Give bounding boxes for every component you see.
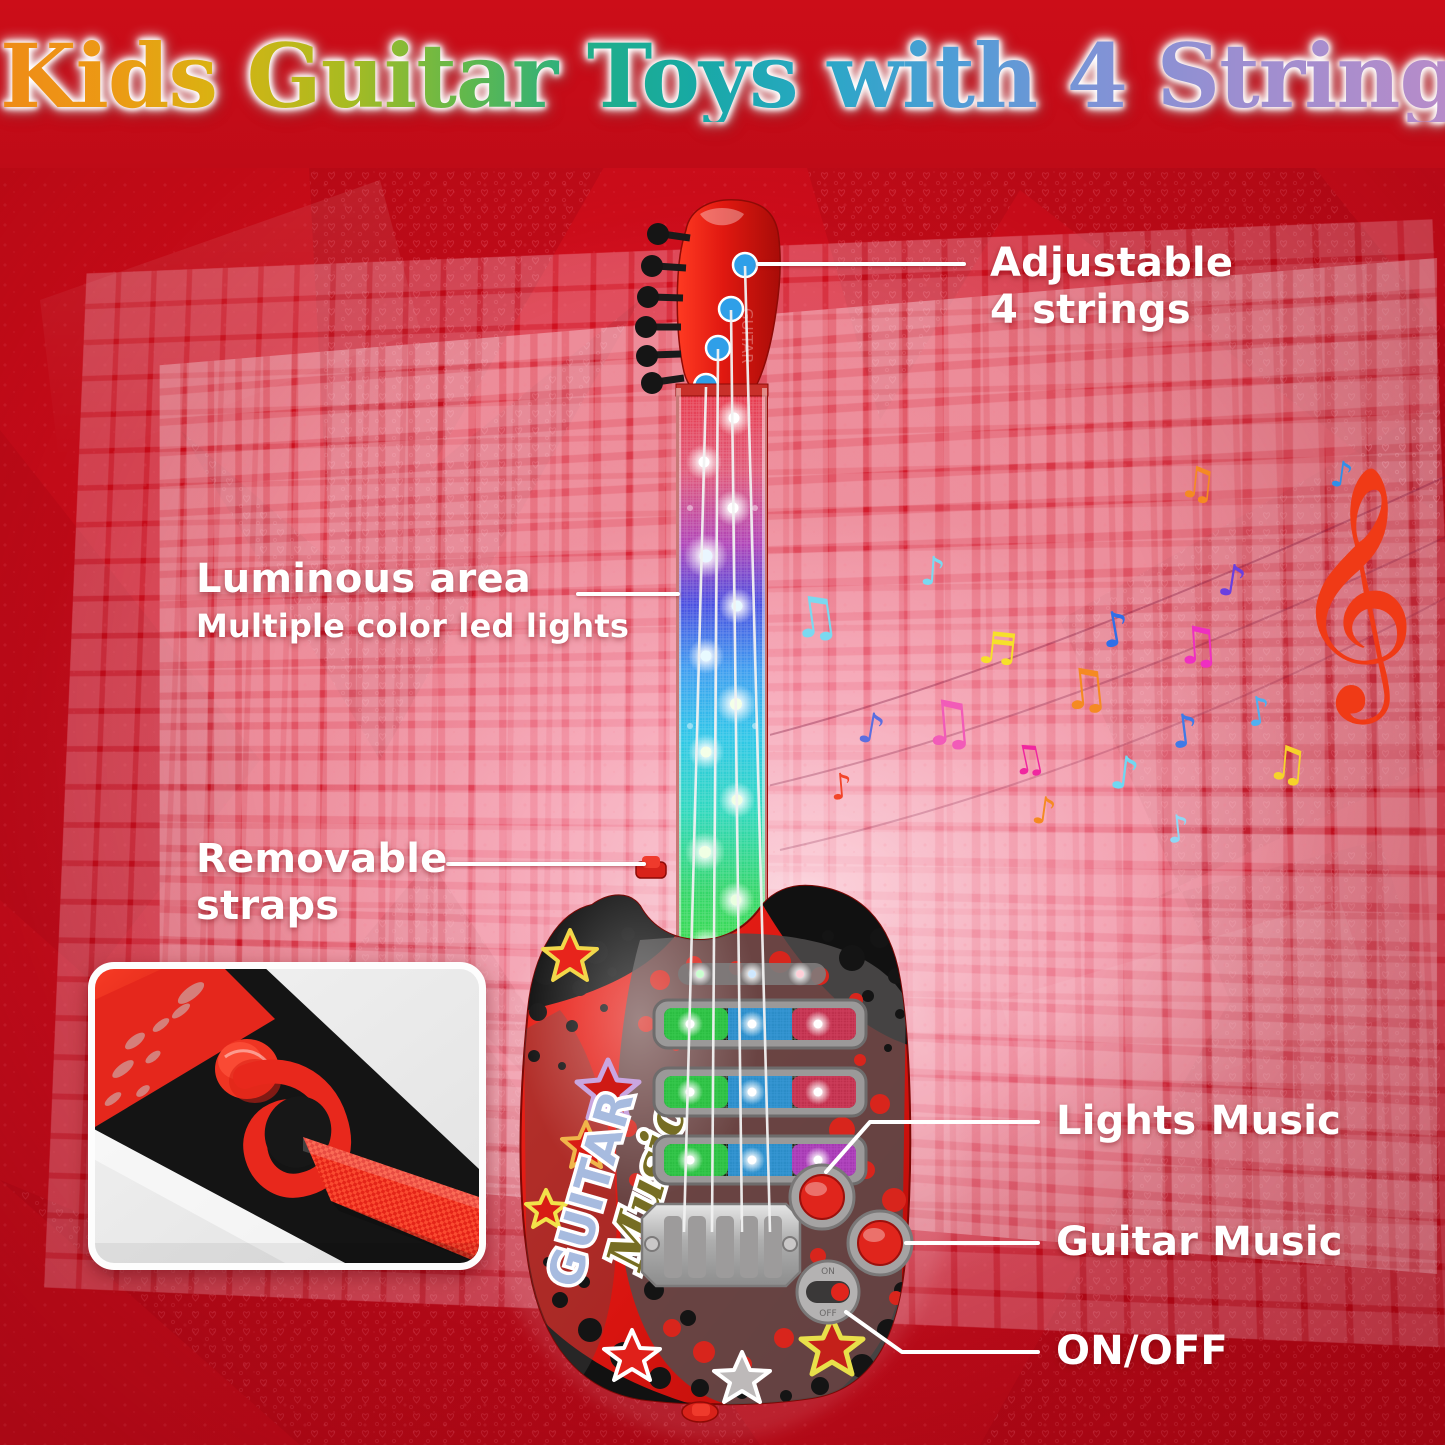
svg-text:OFF: OFF	[819, 1309, 836, 1319]
guitar-music-button	[848, 1211, 912, 1275]
leader-line-removable-straps	[446, 862, 646, 866]
callout-on-off-main: ON/OFF	[1056, 1328, 1228, 1375]
svg-text:ON: ON	[821, 1267, 835, 1277]
callout-removable-straps-sub: straps	[196, 883, 447, 930]
callout-adjustable-strings: Adjustable 4 strings	[990, 240, 1233, 334]
lights-music-button	[790, 1165, 854, 1229]
strap-closeup-inset	[88, 962, 486, 1270]
guitar-neck	[676, 384, 768, 990]
strap-closeup-photo	[95, 969, 479, 1263]
callout-lights-music-main: Lights Music	[1056, 1098, 1341, 1145]
callout-adjustable-strings-main: Adjustable	[990, 240, 1233, 287]
bridge	[642, 1204, 800, 1286]
infographic-canvas: Kids Guitar Toys with 4 String ♫♪♫♬♫♪♫♪♪…	[0, 0, 1445, 1445]
callout-adjustable-strings-sub: 4 strings	[990, 287, 1233, 334]
callout-removable-straps-main: Removable	[196, 836, 447, 883]
callout-luminous-area-main: Luminous area	[196, 556, 629, 603]
leader-line-adjustable-strings	[756, 262, 966, 266]
callout-removable-straps: Removable straps	[196, 836, 447, 930]
callout-on-off: ON/OFF	[1056, 1328, 1228, 1375]
callout-luminous-area: Luminous area Multiple color led lights	[196, 556, 629, 646]
callout-guitar-music-main: Guitar Music	[1056, 1219, 1343, 1266]
on-off-switch: ON OFF	[797, 1261, 859, 1323]
callout-guitar-music: Guitar Music	[1056, 1219, 1343, 1266]
callout-lights-music: Lights Music	[1056, 1098, 1341, 1145]
callout-luminous-area-sub: Multiple color led lights	[196, 607, 629, 645]
